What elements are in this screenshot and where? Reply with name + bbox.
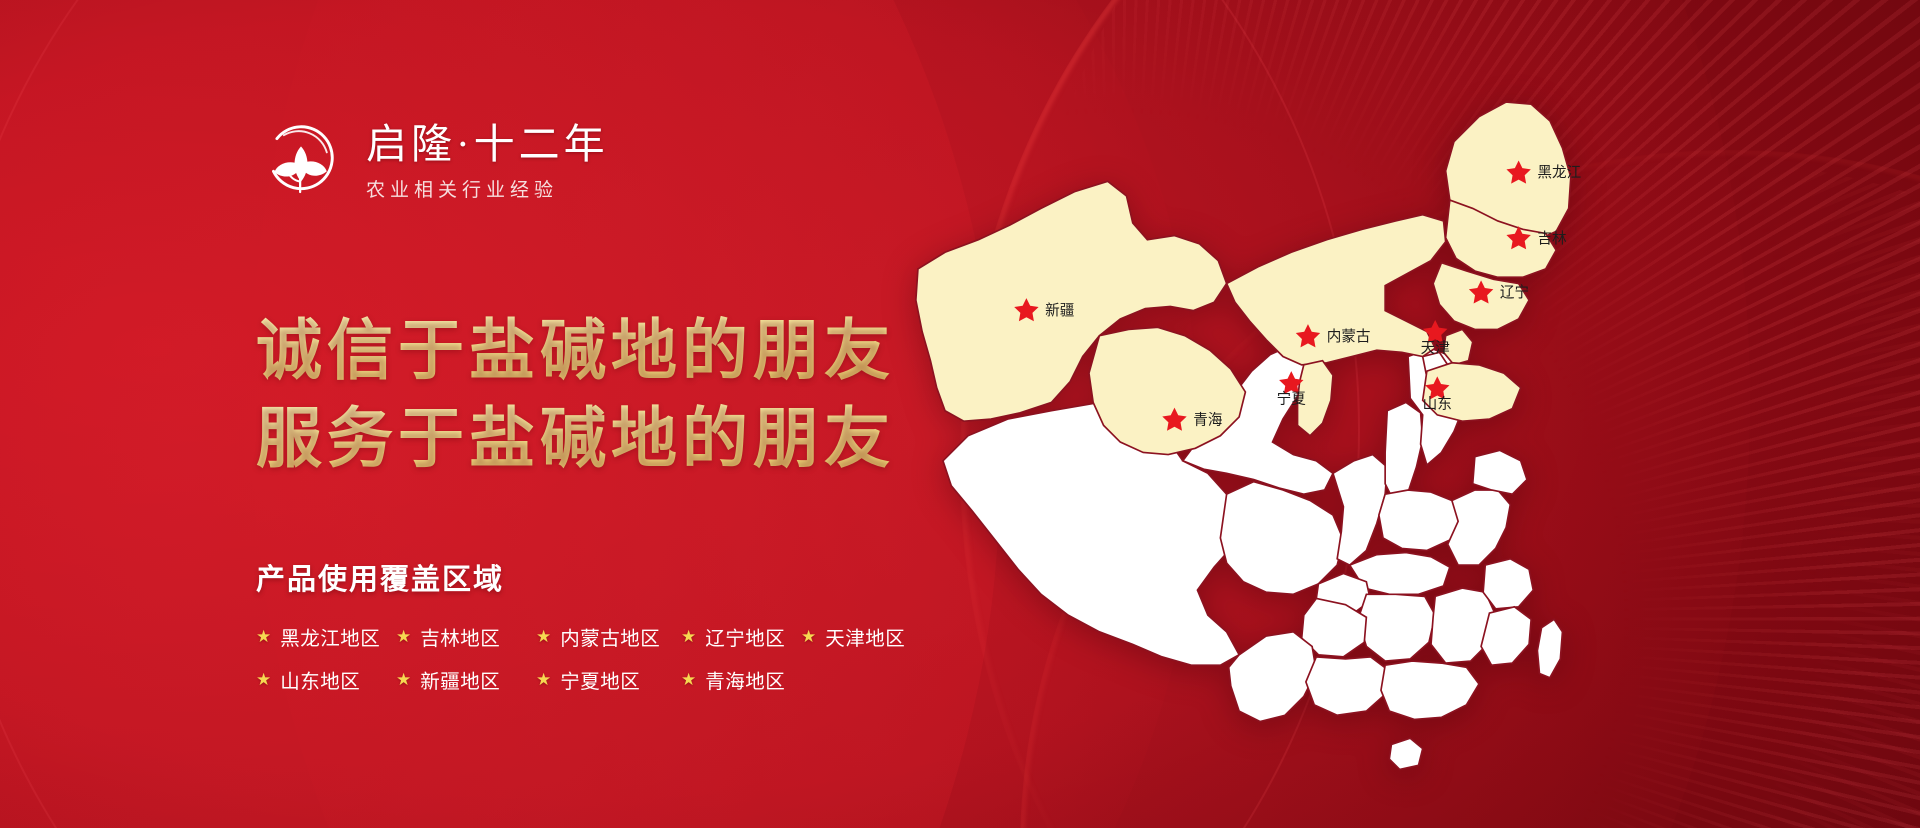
coverage-region-list: ★ 黑龙江地区 ★ 吉林地区 ★ 内蒙古地区 ★ 辽宁地区 ★ 天津地区 [256,622,931,694]
map-marker-label: 天津 [1421,339,1450,356]
map-provinces-highlighted [916,102,1571,454]
region-label: 新疆地区 [420,665,500,694]
china-map: 黑龙江 吉林 辽宁 内蒙古 [880,52,1640,782]
map-marker-label: 辽宁 [1500,284,1529,301]
map-marker-label: 内蒙古 [1327,328,1371,345]
star-icon: ★ [801,628,816,645]
star-icon: ★ [681,671,696,688]
headline-line-1: 诚信于盐碱地的朋友 [256,308,895,396]
list-item: ★ 宁夏地区 [536,665,681,694]
list-item: ★ 新疆地区 [396,665,536,694]
list-item: ★ 天津地区 [801,622,931,651]
brand-subtitle: 农业相关行业经验 [366,175,609,202]
map-marker-label: 宁夏 [1277,390,1307,407]
brand-lockup: 启隆·十二年 农业相关行业经验 [258,118,609,204]
list-item: ★ 青海地区 [681,665,801,694]
star-icon: ★ [396,628,411,645]
star-icon: ★ [536,628,551,645]
map-marker-label: 吉林 [1537,230,1567,247]
map-marker-label: 新疆 [1045,302,1074,319]
region-label: 辽宁地区 [705,622,785,651]
brand-text: 启隆·十二年 农业相关行业经验 [366,120,609,202]
star-icon: ★ [256,671,271,688]
headline: 诚信于盐碱地的朋友 服务于盐碱地的朋友 [256,308,895,485]
region-label: 内蒙古地区 [560,622,660,651]
brand-title: 启隆·十二年 [366,120,609,168]
star-icon: ★ [536,671,551,688]
list-item: ★ 内蒙古地区 [536,622,681,651]
star-icon: ★ [256,628,271,645]
region-label: 宁夏地区 [560,665,640,694]
map-marker-label: 山东 [1423,396,1452,413]
coverage-title: 产品使用覆盖区域 [256,556,931,598]
map-marker-label: 青海 [1193,411,1223,428]
promo-banner: 启隆·十二年 农业相关行业经验 诚信于盐碱地的朋友 服务于盐碱地的朋友 产品使用… [0,0,1920,828]
left-content: 启隆·十二年 农业相关行业经验 诚信于盐碱地的朋友 服务于盐碱地的朋友 产品使用… [0,0,900,828]
region-label: 吉林地区 [420,622,500,651]
region-label: 青海地区 [705,665,785,694]
list-item: ★ 辽宁地区 [681,622,801,651]
star-icon: ★ [681,628,696,645]
region-label: 山东地区 [280,665,360,694]
map-marker-label: 黑龙江 [1537,164,1581,181]
lotus-leaf-circle-icon [258,118,344,204]
list-item: ★ 山东地区 [256,665,396,694]
region-label: 黑龙江地区 [280,622,380,651]
headline-line-2: 服务于盐碱地的朋友 [256,396,895,484]
star-icon: ★ [396,671,411,688]
list-item: ★ 吉林地区 [396,622,536,651]
region-label: 天津地区 [825,622,905,651]
coverage-section: 产品使用覆盖区域 ★ 黑龙江地区 ★ 吉林地区 ★ 内蒙古地区 ★ 辽宁地区 [256,556,931,694]
list-item: ★ 黑龙江地区 [256,622,396,651]
